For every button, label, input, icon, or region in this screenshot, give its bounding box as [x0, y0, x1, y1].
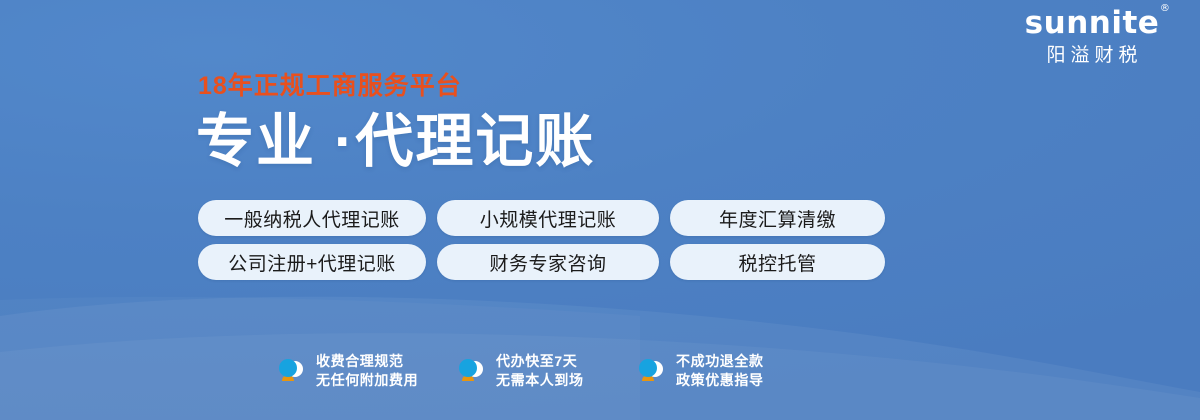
- hero-headline: 专业 ·代理记账: [196, 112, 595, 173]
- hero-kicker: 18年正规工商服务平台: [198, 74, 462, 99]
- feature-line1: 不成功退全款: [676, 353, 764, 369]
- service-pill-annual-settlement[interactable]: 年度汇算清缴: [670, 200, 885, 236]
- feature-item-refund: 不成功退全款 政策优惠指导: [636, 352, 782, 390]
- service-pill-tax-control-hosting[interactable]: 税控托管: [670, 244, 885, 280]
- feature-line2: 政策优惠指导: [676, 371, 764, 390]
- feature-text: 收费合理规范 无任何附加费用: [316, 352, 418, 390]
- circle-badge-icon: [456, 354, 486, 388]
- feature-line2: 无需本人到场: [496, 371, 584, 390]
- service-pill-company-registration[interactable]: 公司注册+代理记账: [198, 244, 426, 280]
- service-pill-small-scale[interactable]: 小规模代理记账: [437, 200, 659, 236]
- service-pill-general-taxpayer[interactable]: 一般纳税人代理记账: [198, 200, 426, 236]
- circle-badge-icon: [636, 354, 666, 388]
- feature-text: 代办快至7天 无需本人到场: [496, 352, 584, 390]
- feature-line1: 收费合理规范: [316, 353, 404, 369]
- registered-trademark-icon: ®: [1160, 4, 1171, 14]
- feature-text: 不成功退全款 政策优惠指导: [676, 352, 764, 390]
- circle-badge-icon: [276, 354, 306, 388]
- brand-logo: sunnite ® 阳溢财税: [1002, 8, 1182, 65]
- feature-strip: 收费合理规范 无任何附加费用 代办快至7天 无需本人到场: [276, 352, 782, 390]
- service-pill-grid: 一般纳税人代理记账 小规模代理记账 年度汇算清缴 公司注册+代理记账 财务专家咨…: [198, 200, 885, 280]
- promo-banner: sunnite ® 阳溢财税 18年正规工商服务平台 专业 ·代理记账 一般纳税…: [0, 0, 1200, 420]
- service-pill-row: 公司注册+代理记账 财务专家咨询 税控托管: [198, 244, 885, 280]
- feature-item-pricing: 收费合理规范 无任何附加费用: [276, 352, 422, 390]
- feature-line2: 无任何附加费用: [316, 371, 418, 390]
- service-pill-finance-consulting[interactable]: 财务专家咨询: [437, 244, 659, 280]
- feature-item-speed: 代办快至7天 无需本人到场: [456, 352, 602, 390]
- service-pill-row: 一般纳税人代理记账 小规模代理记账 年度汇算清缴: [198, 200, 885, 236]
- logo-chinese-name: 阳溢财税: [1002, 46, 1182, 65]
- feature-line1: 代办快至7天: [496, 353, 577, 369]
- logo-wordmark-text: sunnite: [1025, 5, 1160, 41]
- logo-wordmark: sunnite ®: [1025, 8, 1160, 39]
